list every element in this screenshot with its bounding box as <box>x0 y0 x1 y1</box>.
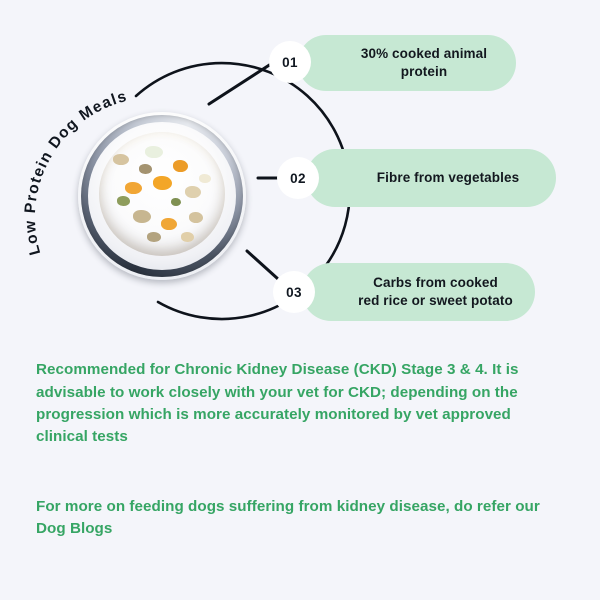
callout-pill-02[interactable]: Fibre from vegetables <box>306 149 556 207</box>
recommendation-paragraph: Recommended for Chronic Kidney Disease (… <box>36 359 564 448</box>
callout-text-02: Fibre from vegetables <box>331 169 531 187</box>
callout-text-03-line-2: red rice or sweet potato <box>358 293 513 308</box>
callout-text-03: Carbs from cooked red rice or sweet pota… <box>312 274 525 310</box>
curved-title: Low Protein Dog Meals <box>22 88 130 257</box>
callout-pill-03[interactable]: Carbs from cooked red rice or sweet pota… <box>302 263 535 321</box>
body-copy-section: Recommended for Chronic Kidney Disease (… <box>36 344 564 555</box>
callout-badge-01: 01 <box>269 41 311 83</box>
diagram-section: Low Protein Dog Meals 30% cooked animal … <box>0 0 600 330</box>
callout-text-01: 30% cooked animal protein <box>298 45 516 81</box>
callout-pill-01[interactable]: 30% cooked animal protein <box>298 35 516 91</box>
callout-badge-02: 02 <box>277 157 319 199</box>
callout-badge-03: 03 <box>273 271 315 313</box>
blog-reference-paragraph: For more on feeding dogs suffering from … <box>36 496 564 541</box>
callout-text-03-line-1: Carbs from cooked <box>373 275 498 290</box>
infographic-canvas: Low Protein Dog Meals 30% cooked animal … <box>0 0 600 600</box>
